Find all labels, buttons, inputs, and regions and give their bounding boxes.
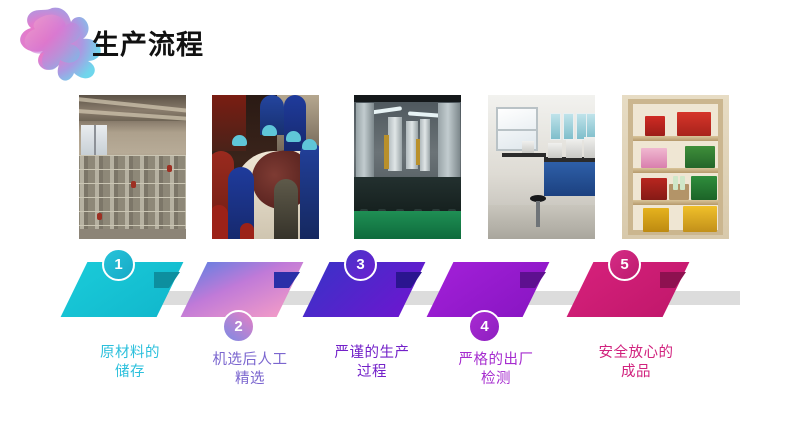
process-flow: 1 原材料的 储存 2 机选后人工 精选 3 严谨的生产 过程: [0, 248, 800, 398]
photo-raw-material-warehouse: [79, 95, 186, 239]
flow-step-5-label-line2: 成品: [556, 363, 716, 382]
photo-filling-line: [354, 95, 461, 239]
flow-step-2-number: 2: [222, 310, 255, 343]
photo-finished-products: [622, 95, 729, 239]
flow-step-4-label: 严格的出厂 检测: [416, 351, 576, 389]
photo-strip: [0, 95, 800, 239]
flow-step-4-label-line1: 严格的出厂: [416, 351, 576, 370]
flow-step-5[interactable]: 5 安全放心的 成品: [556, 248, 716, 398]
flow-step-4-number: 4: [468, 310, 501, 343]
slide-header: 生产流程: [0, 0, 800, 92]
flow-step-1-number: 1: [102, 248, 135, 281]
flow-step-5-label-line1: 安全放心的: [556, 344, 716, 363]
flow-step-3-number: 3: [344, 248, 377, 281]
flow-step-4[interactable]: 4 严格的出厂 检测: [416, 248, 576, 398]
flow-step-5-label: 安全放心的 成品: [556, 344, 716, 382]
page-title: 生产流程: [92, 28, 204, 62]
photo-manual-sorting: [212, 95, 319, 239]
photo-inspection-lab: [488, 95, 595, 239]
flow-step-5-number: 5: [608, 248, 641, 281]
flow-step-4-label-line2: 检测: [416, 370, 576, 389]
